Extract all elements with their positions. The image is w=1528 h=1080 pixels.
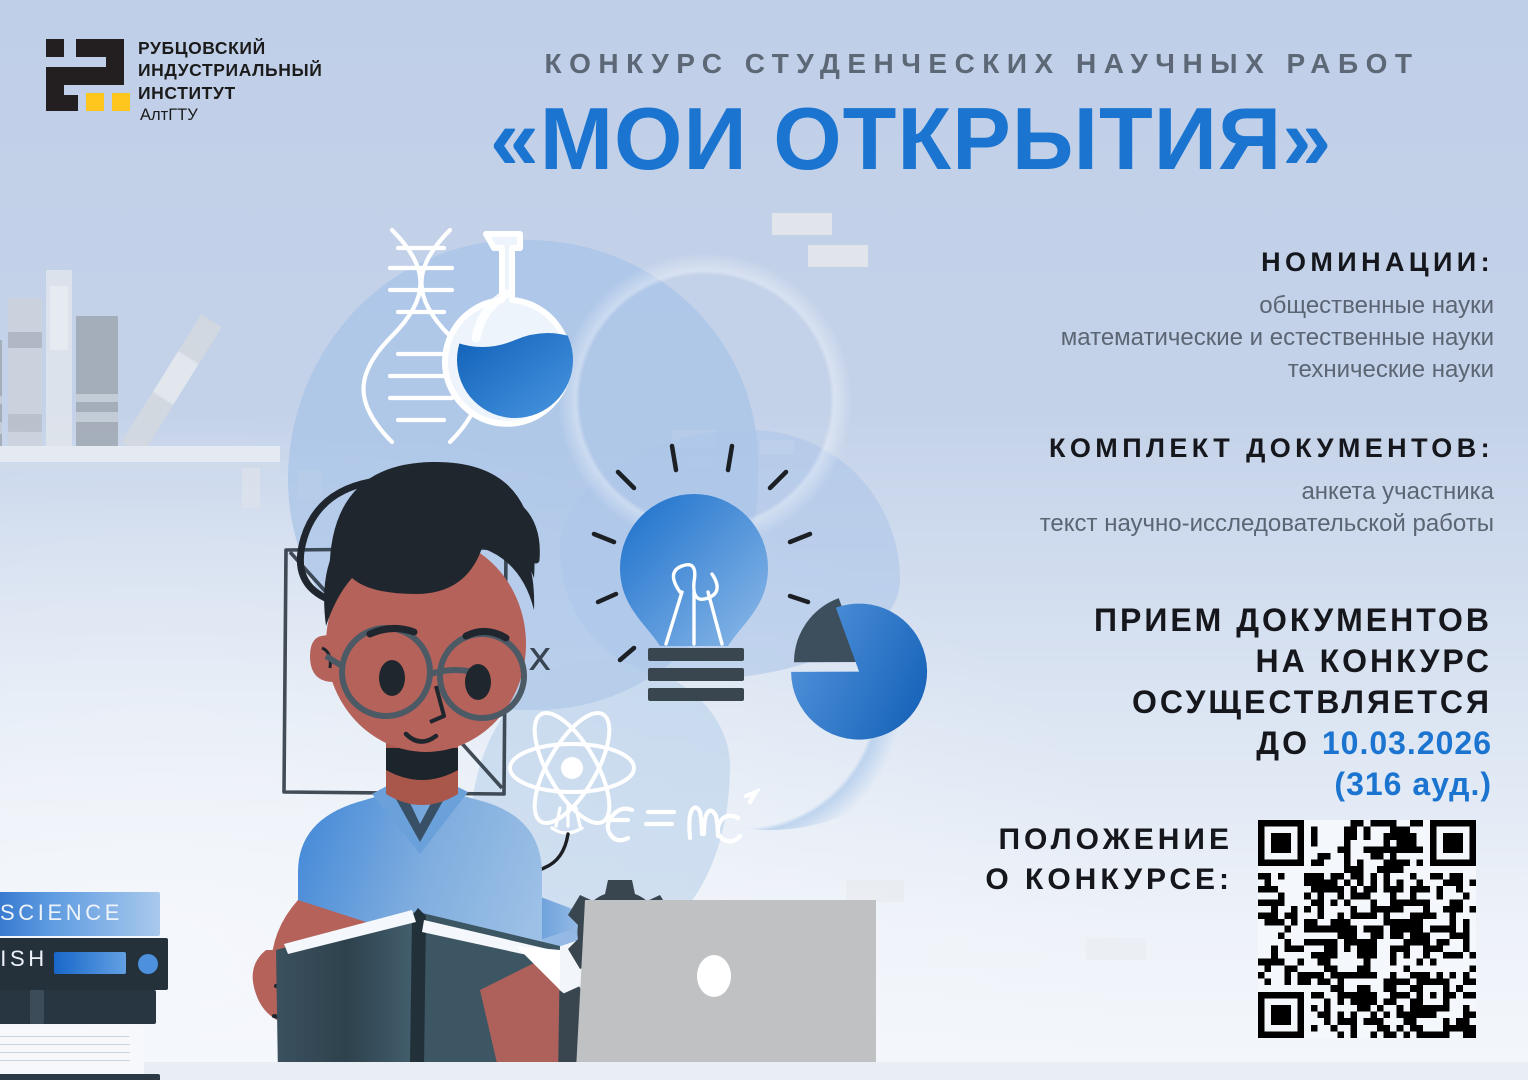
deadline-room: (316 ауд.) bbox=[1094, 764, 1492, 805]
poster-kicker: КОНКУРС СТУДЕНЧЕСКИХ НАУЧНЫХ РАБОТ bbox=[0, 48, 1494, 80]
book-label-science: SCIENCE bbox=[0, 900, 123, 926]
book-math bbox=[0, 1074, 160, 1080]
deadline-line-1: ПРИЕМ ДОКУМЕНТОВ bbox=[1094, 600, 1492, 641]
decor-rect bbox=[846, 880, 904, 902]
flask-icon bbox=[445, 234, 580, 430]
documents-block: КОМПЛЕКТ ДОКУМЕНТОВ: анкета участника те… bbox=[1040, 432, 1494, 540]
regulation-line-2: О КОНКУРСЕ: bbox=[985, 860, 1233, 900]
regulation-block: ПОЛОЖЕНИЕ О КОНКУРСЕ: bbox=[985, 820, 1233, 900]
deadline-date: 10.03.2026 bbox=[1322, 725, 1492, 761]
eye bbox=[465, 664, 491, 700]
book-label-english: ENGLISH bbox=[0, 946, 48, 972]
nomination-item: общественные науки bbox=[1061, 290, 1494, 322]
deadline-block: ПРИЕМ ДОКУМЕНТОВ НА КОНКУРС ОСУЩЕСТВЛЯЕТ… bbox=[1094, 600, 1492, 805]
nominations-block: НОМИНАЦИИ: общественные науки математиче… bbox=[1061, 246, 1494, 386]
nomination-item: математические и естественные науки bbox=[1061, 322, 1494, 354]
book-english-dot bbox=[138, 954, 158, 974]
book-dark-mid bbox=[0, 990, 156, 1024]
deadline-line-4: ДО 10.03.2026 bbox=[1094, 723, 1492, 764]
book-english-strip bbox=[54, 952, 126, 974]
qr-code[interactable] bbox=[1258, 820, 1476, 1038]
page-title: «МОИ ОТКРЫТИЯ» bbox=[0, 95, 1502, 183]
deadline-line-3: ОСУЩЕСТВЛЯЕТСЯ bbox=[1094, 682, 1492, 723]
desk-surface bbox=[0, 1062, 1528, 1080]
nomination-item: технические науки bbox=[1061, 354, 1494, 386]
poster-canvas: x bbox=[0, 0, 1528, 1080]
document-item: анкета участника bbox=[1040, 476, 1494, 508]
deadline-prefix: ДО bbox=[1256, 725, 1322, 761]
book-white-pages-lines bbox=[0, 1036, 130, 1064]
documents-heading: КОМПЛЕКТ ДОКУМЕНТОВ: bbox=[1040, 432, 1494, 466]
book-stack: SCIENCE ENGLISH MATH bbox=[0, 892, 202, 1080]
eye bbox=[379, 660, 405, 696]
regulation-line-1: ПОЛОЖЕНИЕ bbox=[985, 820, 1233, 860]
laptop-dot bbox=[697, 955, 731, 997]
book-dark-mid-notch bbox=[30, 990, 44, 1024]
decor-rect bbox=[1086, 938, 1146, 960]
deadline-line-2: НА КОНКУРС bbox=[1094, 641, 1492, 682]
document-item: текст научно-исследовательской работы bbox=[1040, 508, 1494, 540]
nominations-heading: НОМИНАЦИИ: bbox=[1061, 246, 1494, 280]
